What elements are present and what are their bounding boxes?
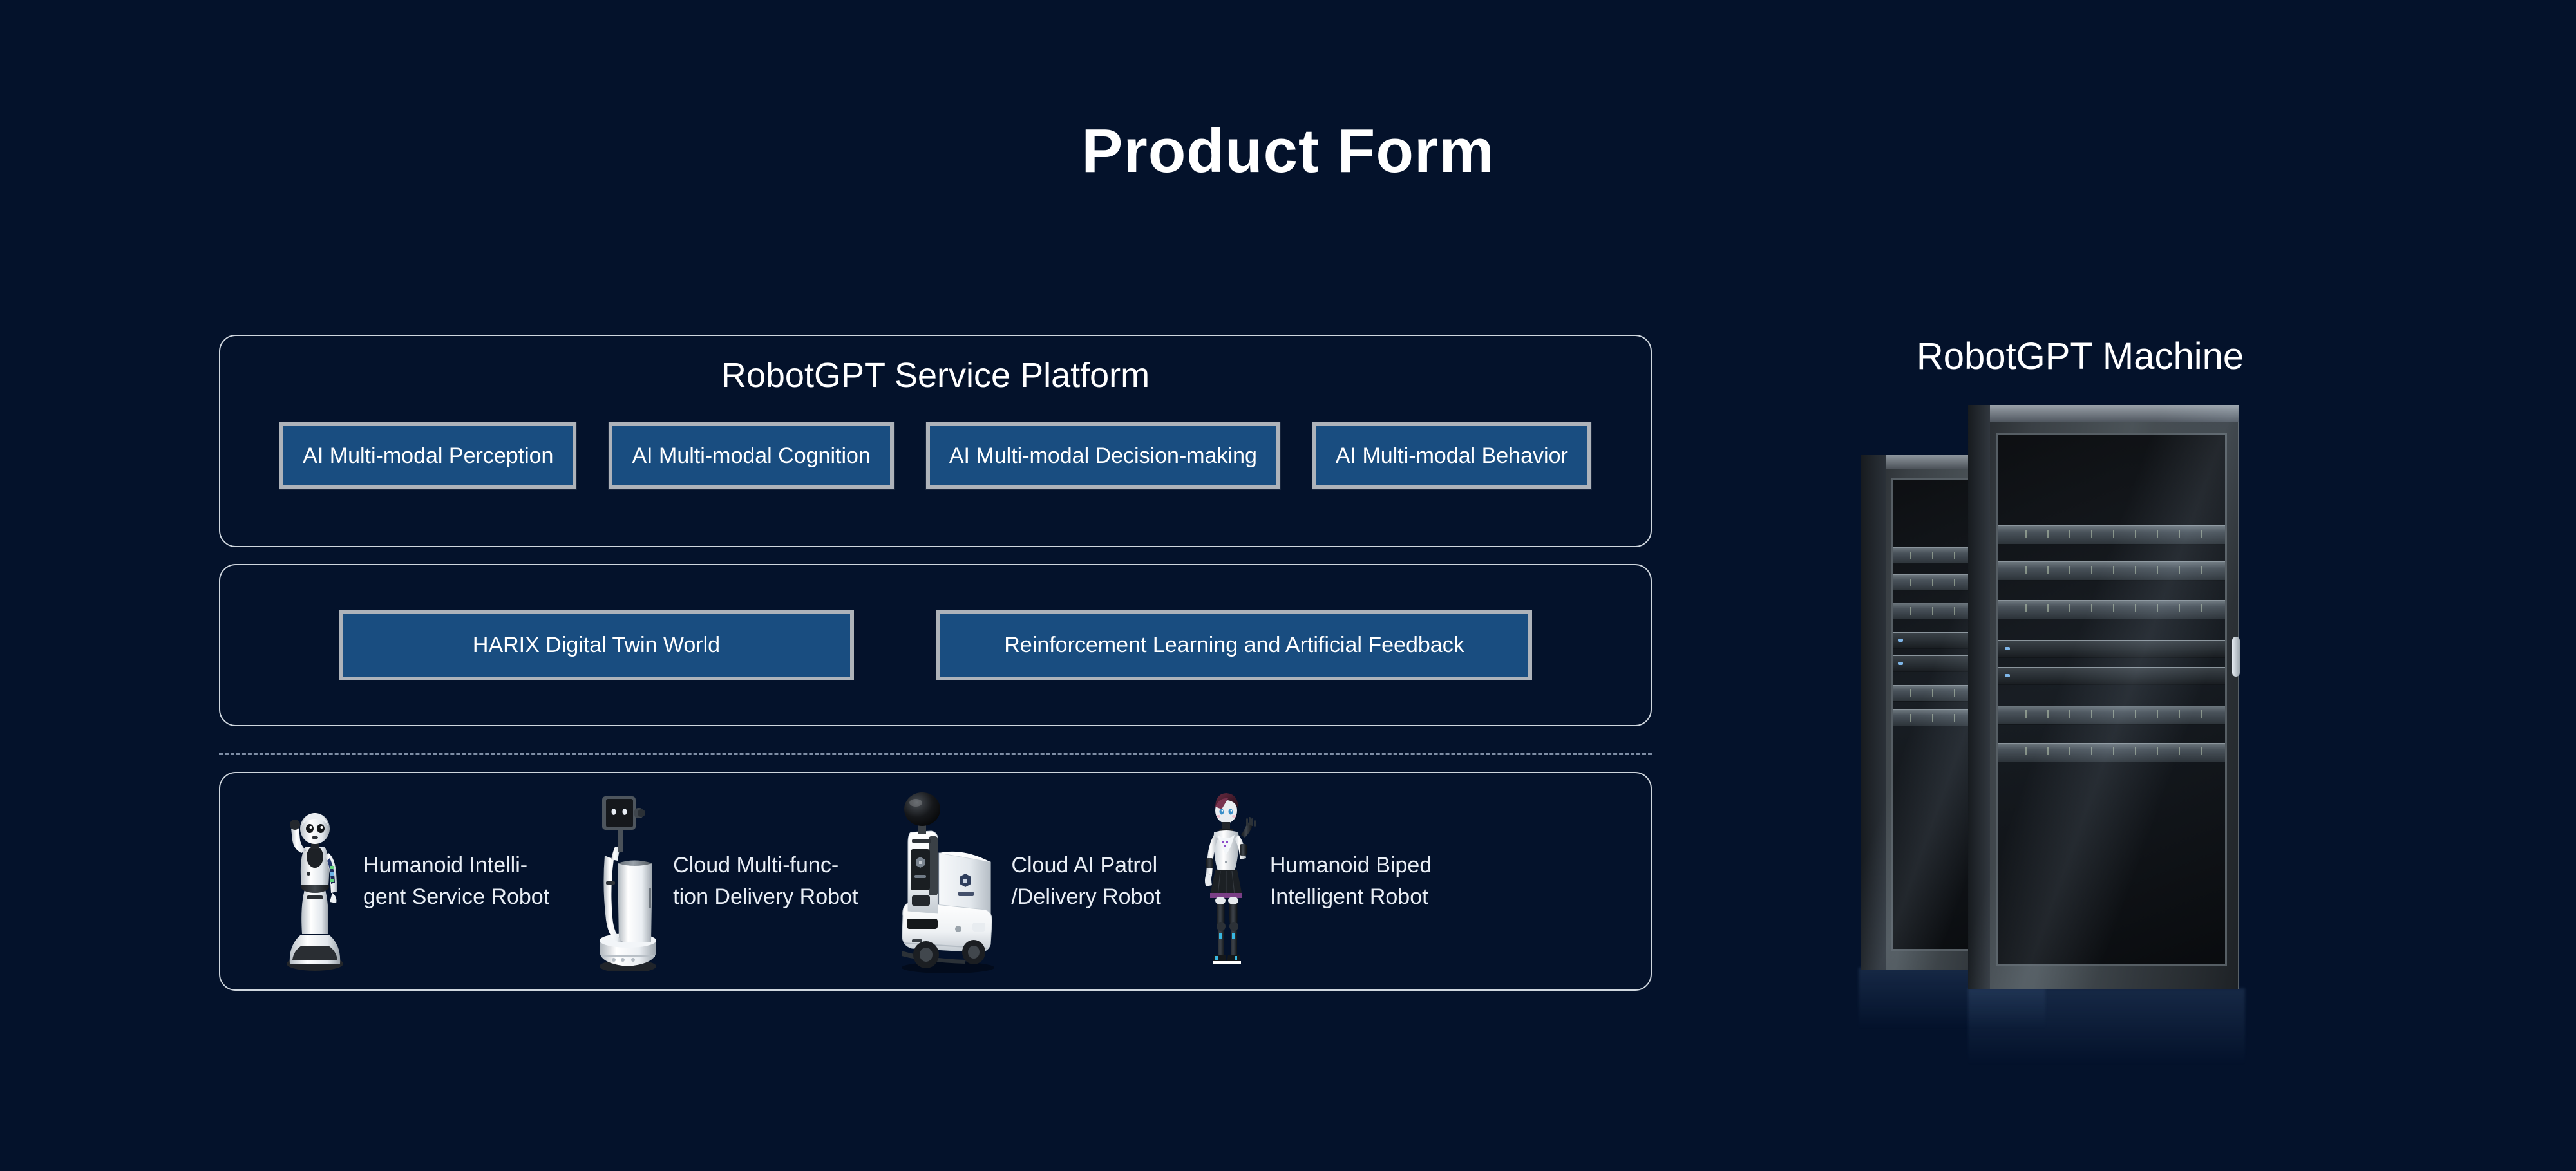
list-item-patrol-robot[interactable]: Cloud AI Patrol /Delivery Robot bbox=[889, 790, 1160, 973]
robot-label-delivery: Cloud Multi-func- tion Delivery Robot bbox=[673, 850, 858, 913]
delivery-robot-icon bbox=[589, 791, 667, 971]
left-column: RobotGPT Service Platform AI Multi-modal… bbox=[219, 335, 1652, 991]
right-column: RobotGPT Machine bbox=[1855, 335, 2306, 1033]
robot-label-humanoid-service: Humanoid Intelli- gent Service Robot bbox=[363, 850, 549, 913]
platform-panel: RobotGPT Service Platform AI Multi-modal… bbox=[219, 335, 1652, 547]
biped-android-robot-icon bbox=[1189, 790, 1264, 973]
chip-reinforcement-learning-feedback[interactable]: Reinforcement Learning and Artificial Fe… bbox=[936, 610, 1532, 680]
chip-ai-decision-making[interactable]: AI Multi-modal Decision-making bbox=[926, 422, 1280, 489]
platform-chip-row: AI Multi-modal Perception AI Multi-modal… bbox=[220, 422, 1651, 489]
chip-ai-behavior[interactable]: AI Multi-modal Behavior bbox=[1312, 422, 1591, 489]
slide-root: Product Form RobotGPT Service Platform A… bbox=[0, 0, 2576, 1171]
twin-panel: HARIX Digital Twin World Reinforcement L… bbox=[219, 564, 1652, 726]
list-item-humanoid-service-robot[interactable]: Humanoid Intelli- gent Service Robot bbox=[273, 791, 549, 971]
dashed-divider bbox=[219, 753, 1652, 755]
list-item-delivery-robot[interactable]: Cloud Multi-func- tion Delivery Robot bbox=[589, 791, 858, 971]
platform-heading: RobotGPT Service Platform bbox=[220, 355, 1651, 395]
chip-ai-cognition[interactable]: AI Multi-modal Cognition bbox=[609, 422, 893, 489]
page-title: Product Form bbox=[0, 116, 2576, 187]
list-item-biped-robot[interactable]: Humanoid Biped Intelligent Robot bbox=[1189, 790, 1432, 973]
robot-label-patrol: Cloud AI Patrol /Delivery Robot bbox=[1011, 850, 1160, 913]
chip-harix-digital-twin-world[interactable]: HARIX Digital Twin World bbox=[339, 610, 854, 680]
machine-title: RobotGPT Machine bbox=[1855, 335, 2306, 378]
rack-reflection-right bbox=[1968, 988, 2245, 1085]
server-rack-icon bbox=[1855, 402, 2306, 1033]
robot-label-biped: Humanoid Biped Intelligent Robot bbox=[1270, 850, 1432, 913]
humanoid-service-robot-icon bbox=[273, 791, 357, 971]
patrol-robot-icon bbox=[889, 790, 1005, 973]
server-rack-primary bbox=[1968, 405, 2239, 989]
robots-panel: Humanoid Intelli- gent Service Robot bbox=[219, 772, 1652, 991]
chip-ai-perception[interactable]: AI Multi-modal Perception bbox=[279, 422, 576, 489]
